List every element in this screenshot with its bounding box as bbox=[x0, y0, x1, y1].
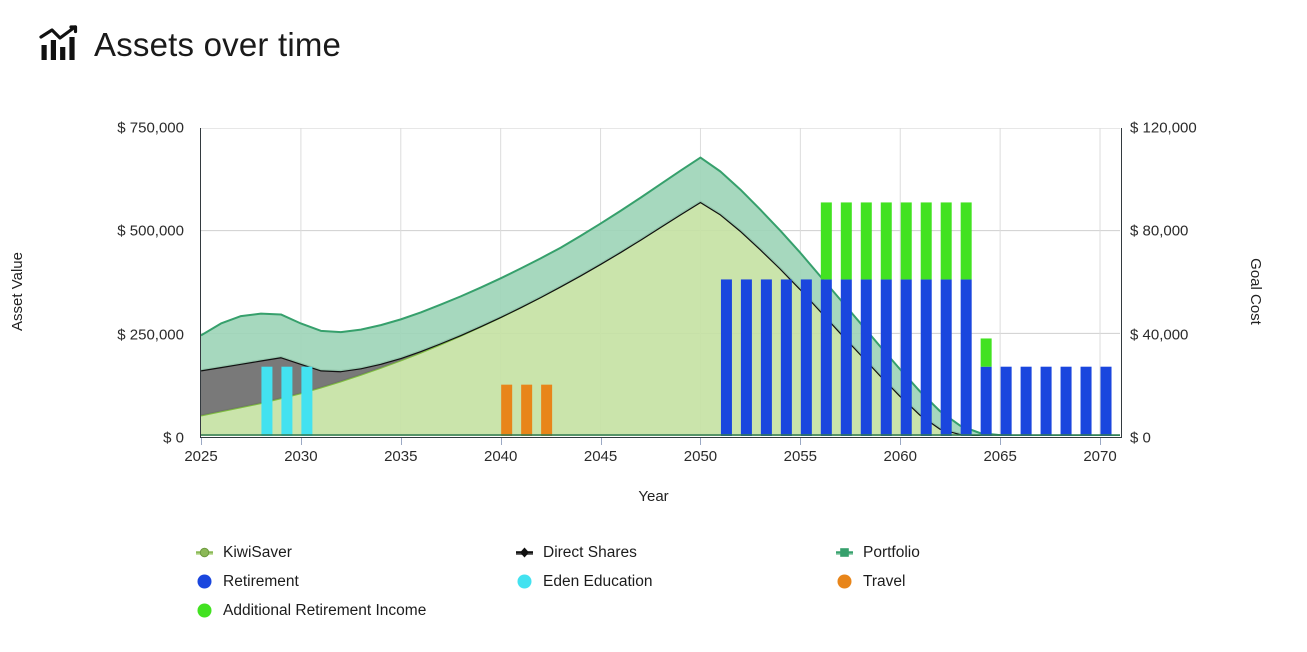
left-tick-250000: $ 250,000 bbox=[117, 326, 184, 343]
legend-item-kiwisaver[interactable]: KiwiSaver bbox=[196, 538, 516, 567]
bar-retirement-2069 bbox=[1081, 367, 1092, 436]
bar-travel-2041 bbox=[521, 385, 532, 436]
chart-svg bbox=[201, 128, 1120, 436]
legend-item-direct-shares[interactable]: Direct Shares bbox=[516, 538, 836, 567]
legend-item-additional-retirement-income[interactable]: Additional Retirement Income bbox=[196, 596, 716, 625]
left-axis-labels: $ 750,000 $ 500,000 $ 250,000 $ 0 bbox=[0, 128, 192, 438]
legend-label: KiwiSaver bbox=[223, 544, 292, 562]
legend-label: Travel bbox=[863, 573, 906, 591]
x-label-2035: 2035 bbox=[384, 448, 417, 465]
bar-retirement-2062 bbox=[941, 279, 952, 436]
bar-additional-retirement-income-2056 bbox=[821, 202, 832, 279]
legend-row-1: KiwiSaver Direct Shares bbox=[196, 538, 1056, 567]
legend-item-portfolio[interactable]: Portfolio bbox=[836, 538, 1056, 567]
bar-eden-education-2028 bbox=[261, 367, 272, 436]
legend-label: Retirement bbox=[223, 573, 299, 591]
bar-additional-retirement-income-2060 bbox=[901, 202, 912, 279]
bar-travel-2040 bbox=[501, 385, 512, 436]
bar-additional-retirement-income-2058 bbox=[861, 202, 872, 279]
additional-retirement-income-marker-icon bbox=[196, 602, 213, 619]
legend-row-2: Retirement Eden Education Travel bbox=[196, 567, 1056, 596]
bar-additional-retirement-income-2064 bbox=[981, 338, 992, 366]
x-tick-2045 bbox=[601, 438, 602, 445]
x-tick-2050 bbox=[700, 438, 701, 445]
x-tick-2060 bbox=[900, 438, 901, 445]
x-label-2065: 2065 bbox=[983, 448, 1016, 465]
retirement-marker-icon bbox=[196, 573, 213, 590]
x-label-2060: 2060 bbox=[884, 448, 917, 465]
bar-retirement-2060 bbox=[901, 279, 912, 436]
bar-additional-retirement-income-2061 bbox=[921, 202, 932, 279]
chart-trend-icon bbox=[38, 24, 78, 64]
bar-retirement-2053 bbox=[761, 279, 772, 436]
right-tick-80000: $ 80,000 bbox=[1130, 223, 1188, 240]
bar-retirement-2055 bbox=[801, 279, 812, 436]
legend-item-eden-education[interactable]: Eden Education bbox=[516, 567, 836, 596]
x-tick-2035 bbox=[401, 438, 402, 445]
bar-additional-retirement-income-2057 bbox=[841, 202, 852, 279]
right-axis-title: Goal Cost bbox=[1247, 258, 1264, 325]
right-tick-120000: $ 120,000 bbox=[1130, 120, 1197, 137]
bar-retirement-2054 bbox=[781, 279, 792, 436]
legend-item-travel[interactable]: Travel bbox=[836, 567, 1056, 596]
left-tick-0: $ 0 bbox=[163, 430, 184, 447]
x-tick-2070 bbox=[1100, 438, 1101, 445]
right-tick-0: $ 0 bbox=[1130, 430, 1151, 447]
x-label-2070: 2070 bbox=[1083, 448, 1116, 465]
bar-travel-2042 bbox=[541, 385, 552, 436]
x-tick-2030 bbox=[301, 438, 302, 445]
bar-retirement-2057 bbox=[841, 279, 852, 436]
legend-label: Direct Shares bbox=[543, 544, 637, 562]
x-label-2045: 2045 bbox=[584, 448, 617, 465]
plot-area bbox=[200, 128, 1122, 438]
bar-retirement-2051 bbox=[721, 279, 732, 436]
bar-retirement-2065 bbox=[1001, 367, 1012, 436]
bar-additional-retirement-income-2063 bbox=[961, 202, 972, 279]
legend-label: Portfolio bbox=[863, 544, 920, 562]
bar-retirement-2067 bbox=[1041, 367, 1052, 436]
left-tick-750000: $ 750,000 bbox=[117, 120, 184, 137]
bar-additional-retirement-income-2059 bbox=[881, 202, 892, 279]
bar-retirement-2064 bbox=[981, 367, 992, 436]
assets-over-time-page: Assets over time $ 750,000 $ 500,000 $ 2… bbox=[0, 0, 1307, 652]
kiwisaver-marker-icon bbox=[196, 544, 213, 561]
x-tick-2065 bbox=[1000, 438, 1001, 445]
bar-eden-education-2030 bbox=[301, 367, 312, 436]
eden-education-marker-icon bbox=[516, 573, 533, 590]
legend-label: Eden Education bbox=[543, 573, 652, 591]
bar-retirement-2066 bbox=[1021, 367, 1032, 436]
travel-marker-icon bbox=[836, 573, 853, 590]
bar-retirement-2056 bbox=[821, 279, 832, 436]
x-label-2030: 2030 bbox=[284, 448, 317, 465]
page-header: Assets over time bbox=[38, 24, 341, 64]
legend-label: Additional Retirement Income bbox=[223, 602, 426, 620]
bar-retirement-2061 bbox=[921, 279, 932, 436]
bar-retirement-2059 bbox=[881, 279, 892, 436]
x-label-2055: 2055 bbox=[784, 448, 817, 465]
bar-retirement-2063 bbox=[961, 279, 972, 436]
left-axis-title: Asset Value bbox=[9, 252, 26, 331]
bar-retirement-2058 bbox=[861, 279, 872, 436]
right-tick-40000: $ 40,000 bbox=[1130, 326, 1188, 343]
x-label-2040: 2040 bbox=[484, 448, 517, 465]
chart-container: $ 750,000 $ 500,000 $ 250,000 $ 0 $ 120,… bbox=[0, 100, 1307, 520]
direct-shares-marker-icon bbox=[516, 544, 533, 561]
x-tick-2055 bbox=[800, 438, 801, 445]
x-tick-2025 bbox=[201, 438, 202, 445]
bar-retirement-2068 bbox=[1061, 367, 1072, 436]
bar-additional-retirement-income-2062 bbox=[941, 202, 952, 279]
x-tick-2040 bbox=[501, 438, 502, 445]
legend-row-3: Additional Retirement Income bbox=[196, 596, 1056, 625]
x-label-2050: 2050 bbox=[684, 448, 717, 465]
legend-item-retirement[interactable]: Retirement bbox=[196, 567, 516, 596]
portfolio-marker-icon bbox=[836, 544, 853, 561]
chart-legend: KiwiSaver Direct Shares bbox=[196, 538, 1056, 625]
bar-eden-education-2029 bbox=[281, 367, 292, 436]
page-title: Assets over time bbox=[94, 28, 341, 61]
bar-retirement-2052 bbox=[741, 279, 752, 436]
plot-inner bbox=[201, 128, 1121, 437]
left-tick-500000: $ 500,000 bbox=[117, 223, 184, 240]
bottom-axis-title: Year bbox=[0, 488, 1307, 505]
bar-retirement-2070 bbox=[1101, 367, 1112, 436]
x-label-2025: 2025 bbox=[184, 448, 217, 465]
